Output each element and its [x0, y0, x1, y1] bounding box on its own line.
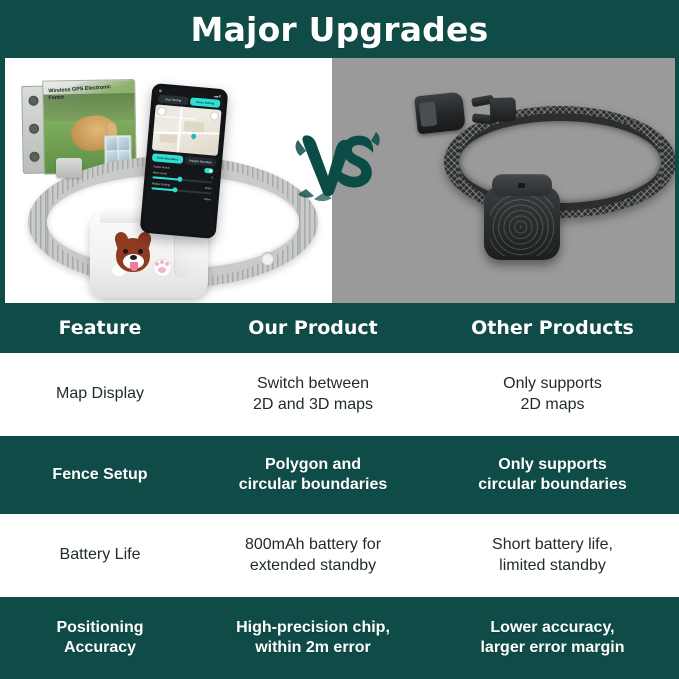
cell-our-product: Switch between 2D and 3D maps: [200, 374, 426, 415]
paw-toe: [160, 260, 164, 264]
setting-value: 205m: [205, 186, 212, 191]
comparison-table: Feature Our Product Other Products Map D…: [0, 303, 679, 679]
mode-polygon-boundary[interactable]: Polygon Boundary: [185, 156, 217, 167]
map-road: [155, 115, 195, 120]
shiba-inu-dog-face-icon: [112, 236, 174, 280]
cell-other-products: Short battery life, limited standby: [426, 535, 679, 576]
buckle-body: [490, 97, 517, 122]
cell-other-products: Lower accuracy, larger error margin: [426, 618, 679, 659]
table-row: Battery Life 800mAh battery for extended…: [0, 514, 679, 597]
cell-feature: Map Display: [0, 384, 200, 404]
box-grommet-icon: [28, 96, 38, 106]
map-block: [159, 133, 177, 143]
cell-our-product: Polygon and circular boundaries: [200, 455, 426, 496]
hero-right-border: [675, 58, 679, 303]
table-row: Fence Setup Polygon and circular boundar…: [0, 436, 679, 514]
setting-label: Radius Setting: [152, 181, 170, 187]
collar-buckle-icon: [56, 158, 82, 178]
header-banner: Major Upgrades: [0, 0, 679, 58]
table-row: Map Display Switch between 2D and 3D map…: [0, 353, 679, 436]
app-map-view[interactable]: [152, 104, 222, 156]
paw-toe: [155, 262, 159, 266]
box-inset-cell: [118, 137, 130, 150]
tab-fence-setting[interactable]: Fence Setting: [190, 97, 221, 108]
setting-value: 3: [211, 175, 213, 179]
paw-toe: [165, 262, 169, 266]
dog-head: [116, 238, 150, 272]
map-compass-icon[interactable]: [158, 108, 166, 116]
black-receiver-unit: [484, 186, 560, 260]
map-road: [177, 107, 183, 153]
other-product-photo-panel: [332, 58, 679, 303]
cell-other-products: Only supports 2D maps: [426, 374, 679, 415]
versus-icon: [292, 118, 384, 210]
smartphone-app-preview: ▦ ▂▃ ▮ Dog Training Fence Setting: [140, 83, 229, 239]
collar-strap-hole: [261, 252, 274, 265]
status-right-icon: ▂▃ ▮: [214, 93, 221, 98]
cell-other-products: Only supports circular boundaries: [426, 455, 679, 496]
dog-nose: [130, 255, 137, 260]
hero-comparison-image: Wireless GPS Electronic Fence: [0, 58, 679, 303]
receiver-top-cap: [492, 174, 552, 196]
status-left-icon: ▦: [159, 89, 162, 93]
table-row: Positioning Accuracy High-precision chip…: [0, 597, 679, 679]
column-header-our-product: Our Product: [200, 316, 426, 340]
more-link[interactable]: More: [204, 197, 211, 202]
box-inset-cell: [106, 137, 118, 150]
buckle-female-icon: [414, 92, 466, 135]
table-header-row: Feature Our Product Other Products: [0, 303, 679, 353]
concentric-rings-pattern: [490, 196, 554, 256]
map-layers-icon[interactable]: [211, 112, 219, 120]
tab-dog-training[interactable]: Dog Training: [158, 95, 189, 106]
page-title: Major Upgrades: [191, 10, 489, 49]
buckle-male-icon: [471, 93, 516, 129]
dog-tongue: [130, 262, 138, 271]
our-product-photo-panel: Wireless GPS Electronic Fence: [0, 58, 332, 303]
setting-label: Warn Level: [153, 170, 167, 175]
dog-eye-right: [138, 249, 143, 254]
cell-our-product: High-precision chip, within 2m error: [200, 618, 426, 659]
map-block: [184, 121, 205, 133]
cell-our-product: 800mAh battery for extended standby: [200, 535, 426, 576]
paw-pad: [158, 267, 166, 273]
active-fence-toggle[interactable]: [204, 168, 213, 174]
column-header-other-products: Other Products: [426, 316, 679, 340]
dog-paw-icon: [153, 259, 172, 277]
box-grommet-icon: [29, 124, 39, 134]
dog-eye-left: [123, 249, 128, 254]
setting-label: Active Fence: [153, 164, 169, 169]
mode-circle-boundary[interactable]: Circle Boundary: [152, 153, 184, 164]
cell-feature: Fence Setup: [0, 465, 200, 485]
column-header-feature: Feature: [0, 316, 200, 340]
receiver-seam: [174, 230, 195, 278]
hero-left-border: [0, 58, 5, 303]
cell-feature: Battery Life: [0, 545, 200, 565]
cell-feature: Positioning Accuracy: [0, 618, 200, 659]
phone-screen: ▦ ▂▃ ▮ Dog Training Fence Setting: [143, 86, 225, 236]
